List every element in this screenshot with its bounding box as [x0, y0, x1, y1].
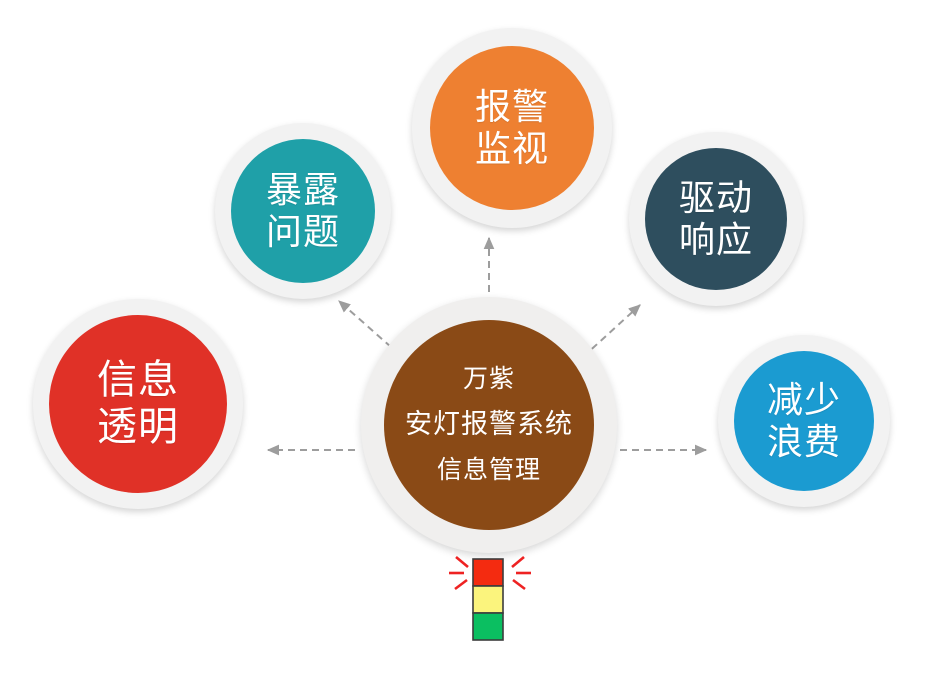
node-drive-response-label-line-2: 响应	[679, 219, 753, 261]
node-expose-problems-label-line-2: 问题	[266, 211, 340, 253]
node-drive-response-disc: 驱动 响应	[645, 148, 787, 290]
node-information-transparency-label-line-2: 透明	[97, 404, 179, 451]
node-expose-problems-disc: 暴露 问题	[231, 139, 375, 283]
andon-red-lamp	[473, 559, 503, 586]
node-reduce-waste-label-line-1: 减少	[767, 379, 841, 421]
node-information-transparency[interactable]: 信息 透明	[33, 299, 243, 509]
andon-stack-light-icon	[440, 548, 540, 648]
center-hub[interactable]: 万紫 安灯报警系统 信息管理	[361, 297, 617, 553]
node-reduce-waste[interactable]: 减少 浪费	[718, 335, 890, 507]
node-reduce-waste-disc: 减少 浪费	[734, 351, 874, 491]
andon-green-lamp	[473, 613, 503, 640]
node-alarm-monitoring[interactable]: 报警 监视	[412, 28, 612, 228]
andon-yellow-lamp	[473, 586, 503, 613]
node-expose-problems-label-line-1: 暴露	[266, 169, 340, 211]
node-information-transparency-disc: 信息 透明	[49, 315, 227, 493]
andon-lamp-body	[473, 559, 503, 640]
center-hub-line-1: 万紫	[463, 366, 515, 394]
center-hub-line-3: 信息管理	[437, 457, 541, 485]
node-reduce-waste-label-line-2: 浪费	[767, 421, 841, 463]
node-drive-response-label-line-1: 驱动	[679, 177, 753, 219]
node-drive-response[interactable]: 驱动 响应	[629, 132, 803, 306]
node-expose-problems[interactable]: 暴露 问题	[215, 123, 391, 299]
center-hub-disc: 万紫 安灯报警系统 信息管理	[384, 320, 594, 530]
center-hub-line-2: 安灯报警系统	[405, 410, 573, 440]
node-alarm-monitoring-label-line-1: 报警	[475, 86, 549, 128]
node-alarm-monitoring-disc: 报警 监视	[430, 46, 594, 210]
diagram-canvas: 报警 监视 暴露 问题 驱动 响应 信息 透明 减少 浪费 万紫 安	[0, 0, 939, 680]
node-information-transparency-label-line-1: 信息	[97, 357, 179, 404]
node-alarm-monitoring-label-line-2: 监视	[475, 128, 549, 170]
